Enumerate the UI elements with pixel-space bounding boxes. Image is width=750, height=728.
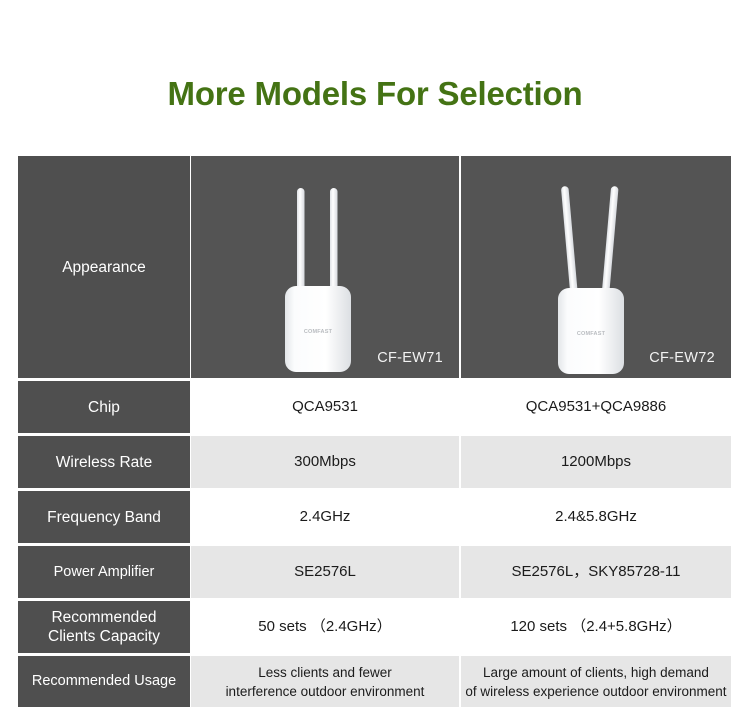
table-row-recommended-clients-capacity: Recommended Clients Capacity 50 sets （2.… — [18, 601, 731, 656]
row-label-text-line2: Clients Capacity — [18, 627, 190, 646]
model-label-cf-ew71: CF-EW71 — [377, 350, 443, 366]
usage-line-2: of wireless experience outdoor environme… — [461, 682, 731, 701]
device-image-cf-ew71: COMFAST — [191, 156, 459, 378]
value-power-amplifier-cf-ew72: SE2576L，SKY85728-11 — [461, 546, 731, 601]
value-wireless-rate-cf-ew72: 1200Mbps — [461, 436, 731, 491]
value-power-amplifier-cf-ew71: SE2576L — [191, 546, 461, 601]
table-row-appearance: Appearance — [18, 156, 731, 381]
usage-line-2: interference outdoor environment — [191, 682, 459, 701]
row-label-text: Power Amplifier — [18, 563, 190, 582]
model-label-cf-ew72: CF-EW72 — [649, 350, 715, 366]
table-row-recommended-usage: Recommended Usage Less clients and fewer… — [18, 656, 731, 707]
value-usage-cf-ew71: Less clients and fewer interference outd… — [191, 656, 461, 707]
value-clients-capacity-cf-ew72: 120 sets （2.4+5.8GHz） — [461, 601, 731, 656]
value-clients-capacity-cf-ew71: 50 sets （2.4GHz） — [191, 601, 461, 656]
model-comparison-table: Appearance — [18, 156, 731, 707]
value-chip-cf-ew72: QCA9531+QCA9886 — [461, 381, 731, 436]
row-label-text: Wireless Rate — [18, 453, 190, 472]
value-frequency-band-cf-ew72: 2.4&5.8GHz — [461, 491, 731, 546]
row-label-text: Chip — [18, 398, 190, 417]
value-usage-cf-ew72: Large amount of clients, high demand of … — [461, 656, 731, 707]
row-label-recommended-usage: Recommended Usage — [18, 656, 191, 707]
svg-text:COMFAST: COMFAST — [577, 331, 606, 337]
row-label-text: Frequency Band — [18, 508, 190, 527]
table-row-chip: Chip QCA9531 QCA9531+QCA9886 — [18, 381, 731, 436]
svg-text:COMFAST: COMFAST — [304, 329, 333, 335]
row-label-appearance: Appearance — [18, 156, 191, 381]
appearance-cell-cf-ew71: COMFAST CF-EW71 — [191, 156, 461, 381]
appearance-cell-cf-ew72: COMFAST CF-EW72 — [461, 156, 731, 381]
usage-line-1: Large amount of clients, high demand — [461, 663, 731, 682]
row-label-text: Recommended Usage — [18, 672, 190, 691]
row-label-frequency-band: Frequency Band — [18, 491, 191, 546]
value-chip-cf-ew71: QCA9531 — [191, 381, 461, 436]
row-label-text-line1: Recommended — [18, 608, 190, 627]
row-label-chip: Chip — [18, 381, 191, 436]
table-row-frequency-band: Frequency Band 2.4GHz 2.4&5.8GHz — [18, 491, 731, 546]
table-row-wireless-rate: Wireless Rate 300Mbps 1200Mbps — [18, 436, 731, 491]
usage-line-1: Less clients and fewer — [191, 663, 459, 682]
value-frequency-band-cf-ew71: 2.4GHz — [191, 491, 461, 546]
page-title: More Models For Selection — [0, 72, 750, 116]
table-row-power-amplifier: Power Amplifier SE2576L SE2576L，SKY85728… — [18, 546, 731, 601]
row-label-power-amplifier: Power Amplifier — [18, 546, 191, 601]
device-image-cf-ew72: COMFAST — [461, 156, 731, 378]
row-label-recommended-clients-capacity: Recommended Clients Capacity — [18, 601, 191, 656]
value-wireless-rate-cf-ew71: 300Mbps — [191, 436, 461, 491]
row-label-text: Appearance — [18, 258, 190, 277]
row-label-wireless-rate: Wireless Rate — [18, 436, 191, 491]
